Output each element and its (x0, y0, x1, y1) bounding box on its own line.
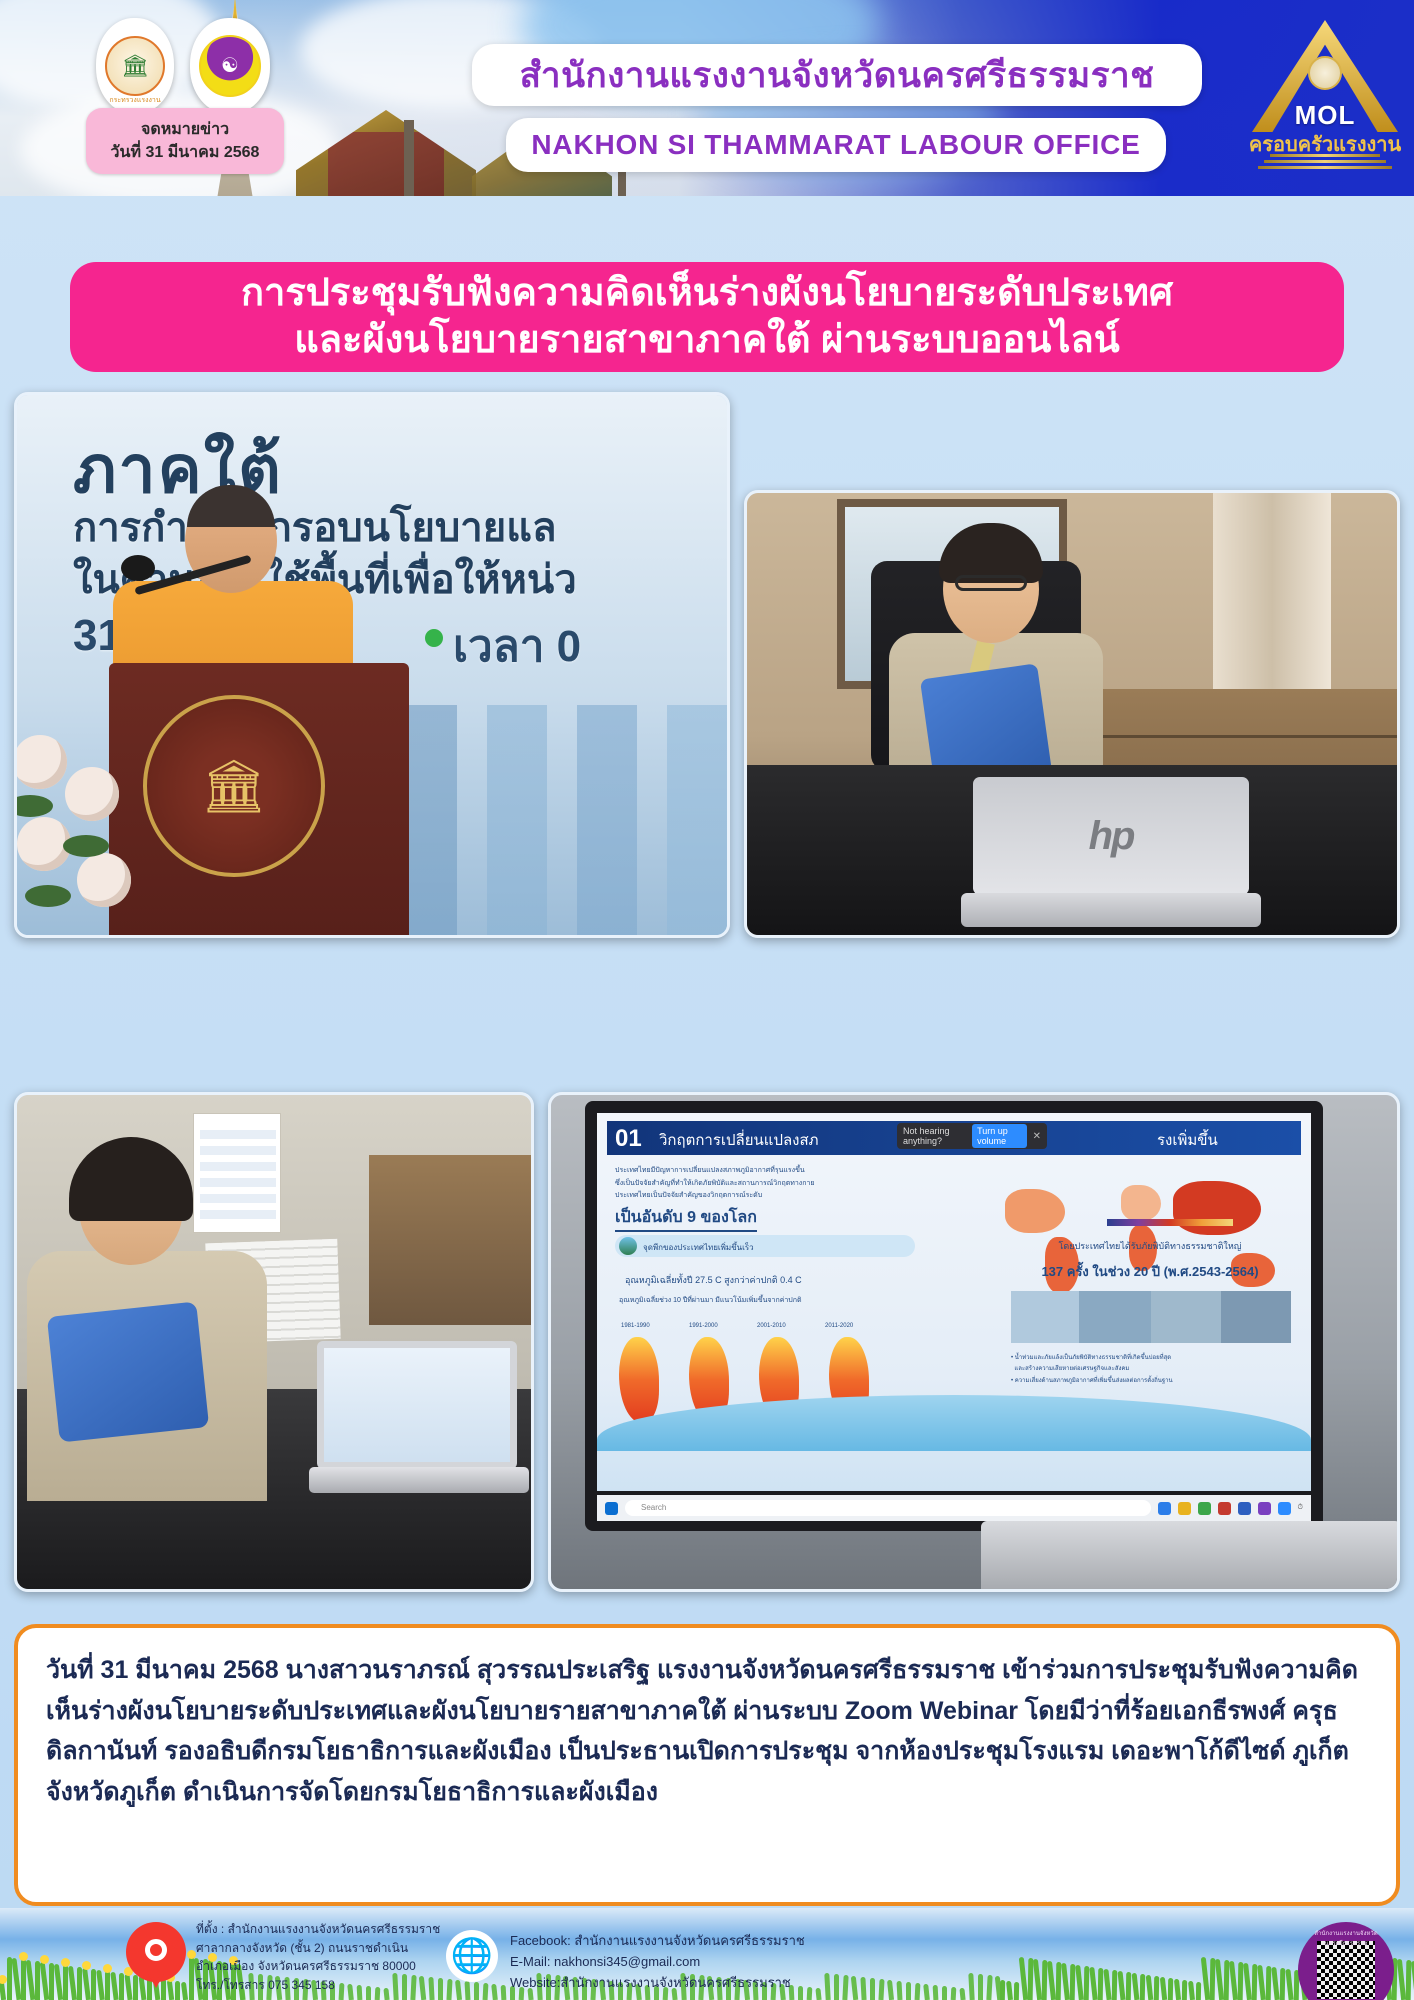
grass-blade (54, 1964, 63, 2000)
grass-blade (175, 1981, 180, 2000)
address-line-4: โทร./โทรสาร 075 345 158 (196, 1976, 496, 1995)
start-icon[interactable] (605, 1502, 618, 1515)
podium-emblem-icon: 🏛 (143, 695, 325, 877)
grass-blade (119, 1973, 124, 2000)
mol-bar (1270, 154, 1380, 157)
grass-blade (1154, 1976, 1159, 2000)
grass-blade (40, 1962, 50, 2000)
website-line[interactable]: Website:สำนักงานแรงงานจังหวัดนครศรีธรรมร… (510, 1972, 1070, 1993)
temple-post (404, 120, 414, 196)
slide-stat-1: อุณหภูมิเฉลี่ยทั้งปี 27.5 C สูงกว่าค่าปก… (625, 1273, 802, 1287)
grass-blade (1126, 1972, 1131, 2000)
globe-icon (619, 1237, 637, 1255)
poster-header: 🏛 กระทรวงแรงงาน ☯ จดหมายข่าว วันที่ 31 ม… (0, 0, 1414, 196)
close-icon[interactable]: ✕ (1033, 1131, 1041, 1142)
email-line[interactable]: E-Mail: nakhonsi345@gmail.com (510, 1951, 1070, 1972)
grass-blade (1174, 1979, 1181, 2000)
grass-blade (1098, 1968, 1104, 2000)
main-title-line-2: และผังนโยบายรายสาขาภาคใต้ ผ่านระบบออนไลน… (294, 317, 1119, 365)
seal-caption: กระทรวงแรงงาน (96, 95, 174, 106)
contact-block: Facebook: สำนักงานแรงงานจังหวัดนครศรีธรร… (510, 1930, 1070, 1993)
grass-blade (1238, 1962, 1244, 2000)
zoom-icon[interactable] (1278, 1502, 1291, 1515)
grass-blade (91, 1969, 96, 2000)
keyboard (981, 1521, 1400, 1589)
slide-year-3: 2001-2010 (757, 1323, 786, 1329)
office-name-thai-pill: สำนักงานแรงงานจังหวัดนครศรีธรรมราช (472, 44, 1202, 106)
laptop-lid: hp (973, 777, 1249, 895)
word-icon[interactable] (1238, 1502, 1251, 1515)
grass-blade (1112, 1970, 1118, 2000)
grass-blade (1168, 1978, 1173, 2000)
office-cabinet (369, 1155, 534, 1325)
grass-blade (1117, 1971, 1125, 2000)
grass-blade (1215, 1959, 1224, 2000)
location-pin-icon (126, 1922, 186, 1982)
mol-label: MOL (1246, 100, 1404, 131)
slide-year-2: 1991-2000 (689, 1323, 718, 1329)
microphone-icon (121, 555, 155, 581)
grass-blade (77, 1967, 82, 2000)
grass-blade (1397, 1959, 1406, 2000)
flower-bud (0, 1975, 7, 1984)
zoom-notification-text: Not hearing anything? (903, 1126, 966, 1146)
slide-year-4: 2011-2020 (825, 1323, 853, 1329)
qr-code-image[interactable] (1317, 1941, 1375, 1999)
zoom-audio-notification[interactable]: Not hearing anything? Turn up volume ✕ (897, 1123, 1047, 1149)
grass-blade (1196, 1982, 1201, 2000)
screen-time: เวลา 0 (453, 611, 581, 681)
powerpoint-icon[interactable] (1218, 1502, 1231, 1515)
grass-blade (110, 1972, 118, 2000)
grass-blade (1252, 1964, 1258, 2000)
flower-bud (82, 1961, 91, 1970)
laptop-base (309, 1467, 529, 1493)
mol-bar (1264, 160, 1386, 163)
facebook-line[interactable]: Facebook: สำนักงานแรงงานจังหวัดนครศรีธรร… (510, 1930, 1070, 1951)
grass-blade (1089, 1967, 1097, 2000)
arm-sling (47, 1302, 209, 1443)
laptop-brand-label: hp (1089, 814, 1134, 859)
newsletter-label: จดหมายข่าว (141, 118, 229, 141)
photo-speaker-podium: ภาคใต้ การกำหนดกรอบนโยบายแล ในด้านการใช้… (14, 392, 730, 938)
grass-blade (49, 1963, 54, 2000)
presentation-slide: 01 วิกฤตการเปลี่ยนแปลงสภ รงเพิ่มขึ้น Not… (597, 1113, 1311, 1491)
grass-blade (96, 1970, 105, 2000)
wall-calendar (193, 1113, 281, 1233)
disaster-photo-strip (1011, 1291, 1291, 1343)
windows-taskbar[interactable]: Search ⏱ (597, 1495, 1311, 1521)
teams-icon[interactable] (1258, 1502, 1271, 1515)
grass-blade (1271, 1967, 1279, 2000)
computer-monitor: 01 วิกฤตการเปลี่ยนแปลงสภ รงเพิ่มขึ้น Not… (585, 1101, 1323, 1531)
mol-emblem-icon (1308, 56, 1342, 90)
turn-up-volume-button[interactable]: Turn up volume (972, 1124, 1027, 1148)
slide-year-1: 1981-1990 (621, 1323, 650, 1329)
ministry-of-labour-seal: 🏛 กระทรวงแรงงาน (96, 18, 174, 114)
thailand-map-1 (619, 1337, 659, 1423)
slide-stat-2: อุณหภูมิเฉลี่ยช่วง 10 ปีที่ผ่านมา มีแนวโ… (619, 1295, 802, 1306)
qr-caption: สำนักงานแรงงานจังหวัดนครศรีธรรมราช (1298, 1928, 1394, 1948)
grass-blade (501, 1985, 507, 2000)
slide-bullets: • น้ำท่วมและภัยแล้งเป็นภัยพิบัติทางธรรมช… (1011, 1353, 1291, 1387)
article-paragraph: วันที่ 31 มีนาคม 2568 นางสาวนราภรณ์ สุวร… (46, 1650, 1368, 1812)
grass-blade (1140, 1974, 1145, 2000)
photo-webinar-monitor: 01 วิกฤตการเปลี่ยนแปลงสภ รงเพิ่มขึ้น Not… (548, 1092, 1400, 1592)
province-seal: ☯ (190, 18, 270, 114)
address-line-1: ที่ตั้ง : สำนักงานแรงงานจังหวัดนครศรีธรร… (196, 1920, 496, 1939)
mol-logo: MOL ครอบครัวแรงงาน (1246, 14, 1404, 172)
slide-right-text-2: 137 ครั้ง ในช่วง 20 ปี (พ.ศ.2543-2564) (1005, 1261, 1295, 1282)
grass-blade (1070, 1964, 1076, 2000)
grass-blade (63, 1965, 68, 2000)
office-name-english-pill: NAKHON SI THAMMARAT LABOUR OFFICE (506, 118, 1166, 172)
grass-blade (1188, 1981, 1195, 2000)
grass-blade (1280, 1968, 1286, 2000)
excel-icon[interactable] (1198, 1502, 1211, 1515)
globe-icon: 🌐 (446, 1930, 498, 1982)
office-name-thai: สำนักงานแรงงานจังหวัดนครศรีธรรมราช (520, 48, 1155, 103)
grass-blade (124, 1974, 132, 2000)
newsletter-date: วันที่ 31 มีนาคม 2568 (111, 141, 260, 164)
grass-blade (1266, 1966, 1272, 2000)
grass-blade (82, 1968, 91, 2000)
slide-title: วิกฤตการเปลี่ยนแปลงสภ (659, 1128, 819, 1152)
grass-blade (1075, 1965, 1084, 2000)
main-title-banner: การประชุมรับฟังความคิดเห็นร่างผังนโยบายร… (70, 262, 1344, 372)
slide-intro-text: ประเทศไทยมีปัญหาการเปลี่ยนแปลงสภาพภูมิอา… (615, 1165, 905, 1203)
slide-right-text-1: โดยประเทศไทยได้รับภัยพิบัติทางธรรมชาติให… (1005, 1239, 1295, 1253)
edge-icon[interactable] (1158, 1502, 1171, 1515)
grass-blade (1182, 1980, 1187, 2000)
flower-bud (40, 1955, 49, 1964)
grass-blade (1257, 1965, 1266, 2000)
grass-blade (26, 1960, 36, 2000)
grass-blade (133, 1975, 138, 2000)
grass-blade (181, 1982, 188, 2000)
grass-blade (0, 1982, 6, 2000)
article-body-box: วันที่ 31 มีนาคม 2568 นางสาวนราภรณ์ สุวร… (14, 1624, 1400, 1906)
office-name-english: NAKHON SI THAMMARAT LABOUR OFFICE (531, 129, 1140, 161)
mol-bar (1258, 166, 1392, 169)
grass-blade (105, 1971, 110, 2000)
slide-title-tail: รงเพิ่มขึ้น (1157, 1128, 1218, 1152)
poster-root: 🏛 กระทรวงแรงงาน ☯ จดหมายข่าว วันที่ 31 ม… (0, 0, 1414, 2000)
glasses-icon (955, 575, 1027, 591)
grass-blade (1103, 1969, 1111, 2000)
slide-bubble-text: จุดพีกของประเทศไทยเพิ่มขึ้นเร็ว (643, 1241, 754, 1254)
slide-number: 01 (615, 1125, 642, 1153)
file-explorer-icon[interactable] (1178, 1502, 1191, 1515)
green-dot-icon (425, 629, 443, 647)
grass-blade (1160, 1977, 1167, 2000)
grass-blade (1132, 1973, 1140, 2000)
grass-blade (1229, 1961, 1238, 2000)
map-legend (1107, 1219, 1233, 1226)
slide-rank-text: เป็นอันดับ 9 ของโลก (615, 1205, 757, 1232)
photo-officer-desk-side (14, 1092, 534, 1592)
clock: ⏱ (1298, 1504, 1303, 1512)
laptop-base (961, 893, 1261, 927)
grass-blade (68, 1966, 77, 2000)
grass-blade (1146, 1975, 1154, 2000)
newsletter-badge: จดหมายข่าว วันที่ 31 มีนาคม 2568 (86, 108, 284, 174)
photo-officer-desk-front: hp (744, 490, 1400, 938)
taskbar-search-input[interactable]: Search (625, 1500, 1151, 1516)
qr-code-badge[interactable]: สำนักงานแรงงานจังหวัดนครศรีธรรมราช (1298, 1922, 1394, 2000)
main-title-line-1: การประชุมรับฟังความคิดเห็นร่างผังนโยบายร… (241, 270, 1173, 318)
grass-blade (1243, 1963, 1252, 2000)
laptop-lid (317, 1341, 517, 1469)
grass-blade (1285, 1969, 1293, 2000)
grass-blade (167, 1980, 174, 2000)
grass-blade (1084, 1966, 1090, 2000)
flower-arrangement (14, 725, 167, 938)
